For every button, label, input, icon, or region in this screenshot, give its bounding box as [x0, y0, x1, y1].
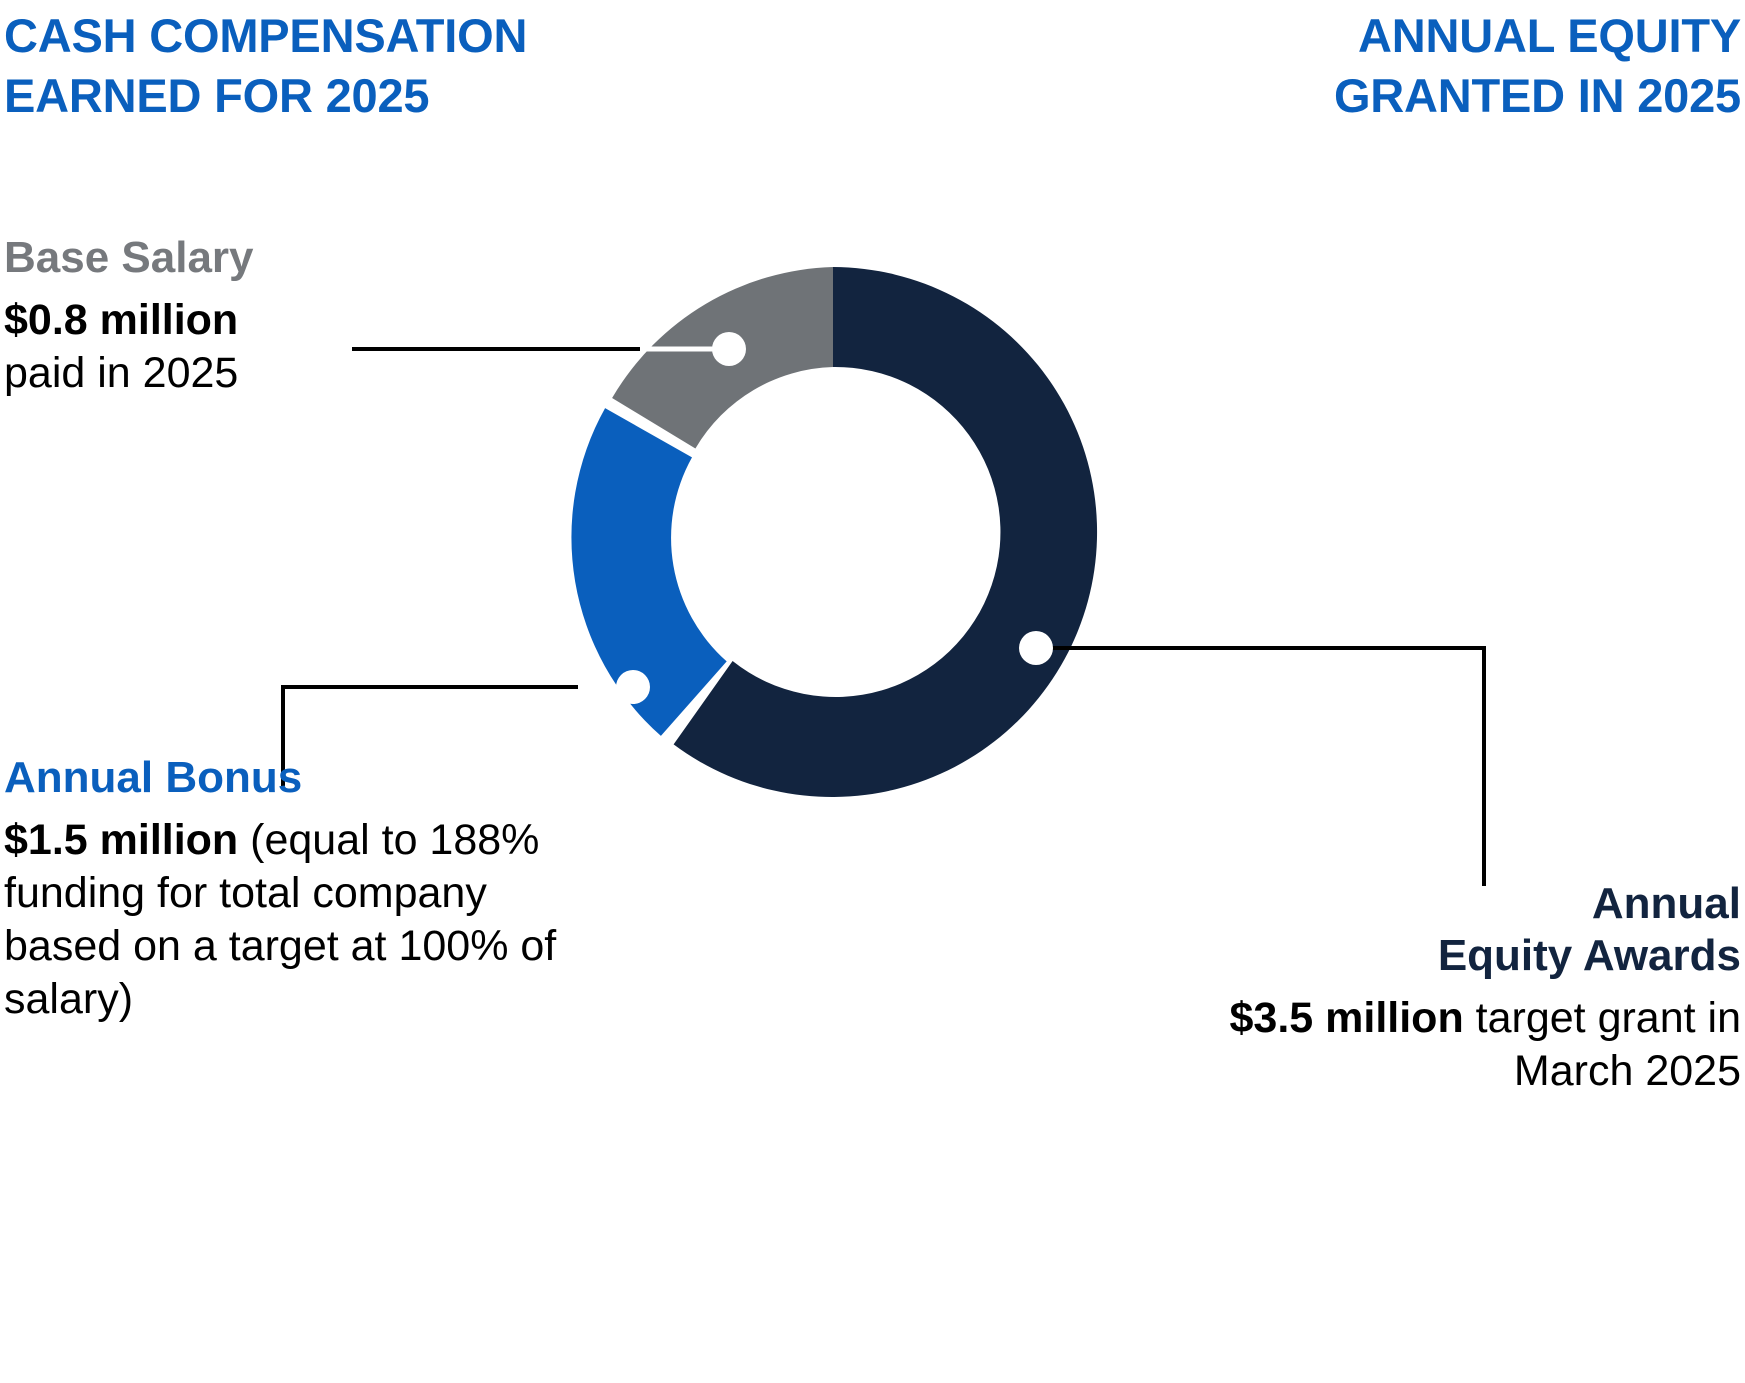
compensation-donut-chart	[0, 0, 1745, 1383]
donut-chart-container	[0, 0, 1745, 1383]
leader-dot-annual-bonus	[616, 670, 650, 704]
leader-line-equity-awards	[1040, 648, 1484, 886]
leader-dot-equity-awards	[1019, 631, 1053, 665]
callout-base-salary-detail: paid in 2025	[4, 349, 238, 397]
callout-annual-bonus-value: $1.5 million	[4, 816, 238, 864]
callout-equity-awards-body: $3.5 million target grant in March 2025	[1121, 992, 1741, 1098]
header-annual-equity: ANNUAL EQUITY GRANTED IN 2025	[1334, 6, 1741, 126]
infographic-root: CASH COMPENSATION EARNED FOR 2025 ANNUAL…	[0, 0, 1745, 1383]
donut-segment-base-salary[interactable]	[612, 267, 833, 449]
donut-segment-annual-equity-awards[interactable]	[674, 267, 1097, 797]
donut-segment-annual-bonus[interactable]	[571, 408, 726, 736]
callout-annual-bonus: Annual Bonus $1.5 million (equal to 188%…	[4, 752, 564, 1025]
callout-equity-awards-title: Annual Equity Awards	[1121, 878, 1741, 982]
callout-base-salary-body: $0.8 million paid in 2025	[4, 294, 564, 400]
callout-equity-awards-value: $3.5 million	[1230, 994, 1464, 1042]
callout-base-salary: Base Salary $0.8 million paid in 2025	[4, 232, 564, 400]
callout-annual-bonus-body: $1.5 million (equal to 188% funding for …	[4, 814, 564, 1026]
callout-annual-bonus-title: Annual Bonus	[4, 752, 564, 804]
callout-equity-awards-detail: target grant in March 2025	[1464, 994, 1741, 1095]
header-cash-compensation: CASH COMPENSATION EARNED FOR 2025	[4, 6, 527, 126]
leader-dot-base-salary	[712, 332, 746, 366]
callout-base-salary-title: Base Salary	[4, 232, 564, 284]
callout-base-salary-value: $0.8 million	[4, 296, 238, 344]
callout-equity-awards: Annual Equity Awards $3.5 million target…	[1121, 878, 1741, 1098]
